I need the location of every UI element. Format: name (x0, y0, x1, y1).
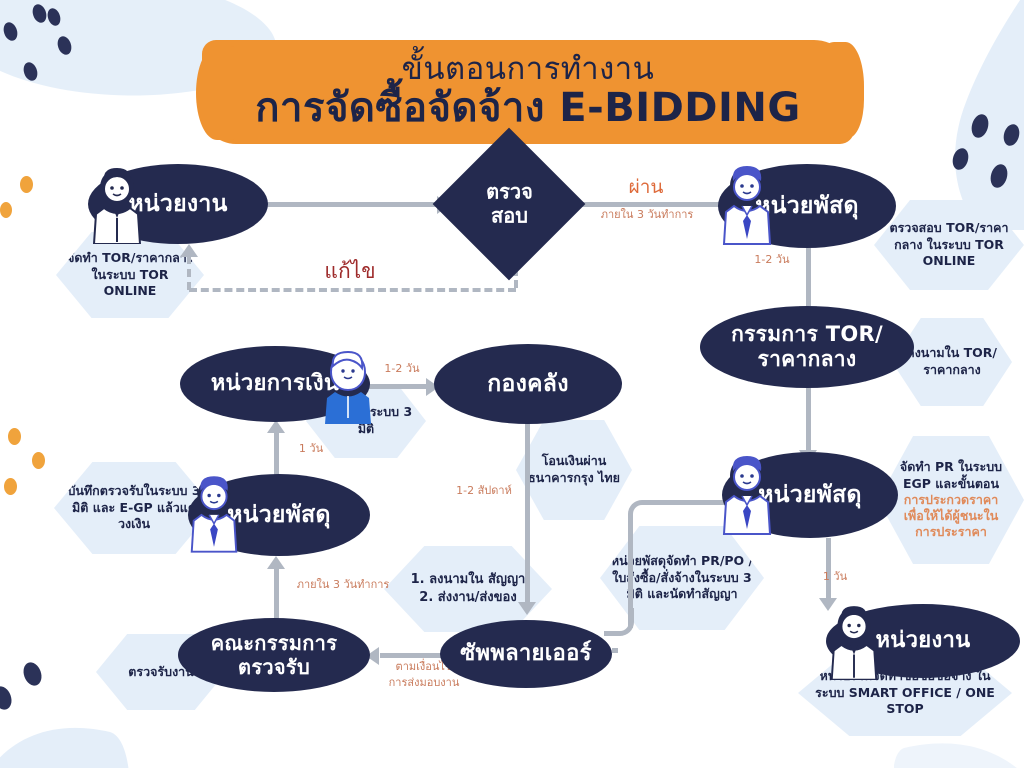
node-label-line-2: สอบ (491, 203, 528, 227)
node-treasury[interactable]: กองคลัง (434, 344, 622, 424)
edge-label-1-day-b: 1 วัน (812, 570, 858, 584)
decor-dot (0, 684, 15, 712)
connector-revise-horizontal (189, 288, 516, 292)
callout-tor-online-check: ตรวจสอบ TOR/ราคากลาง ในระบบ TOR ONLINE (874, 200, 1024, 290)
node-label: ซัพพลายเออร์ (460, 641, 591, 667)
callout-tor-sign: ลงนามใน TOR/ราคากลาง (892, 318, 1012, 406)
edge-label-pass-sub: ภายใน 3 วันทำการ (594, 208, 700, 222)
edge-label-1-day-c: 1 วัน (288, 442, 334, 456)
infographic-canvas: ขั้นตอนการทำงาน การจัดซื้อจัดจ้าง E-BIDD… (0, 0, 1024, 768)
node-label-line-1: คณะกรรมการ (211, 631, 338, 655)
callout-text: ลงนามใน TOR/ราคากลาง (900, 345, 1004, 379)
edge-label-pass: ผ่าน (596, 176, 696, 200)
edge-label-1-2-days-a: 1-2 วัน (744, 253, 800, 267)
decor-dot (30, 2, 48, 24)
decor-dot (1001, 122, 1021, 147)
decor-dot (20, 660, 44, 688)
connector-supplier-in-elbow (604, 608, 634, 636)
decor-dot (988, 162, 1010, 189)
edge-label-delivery-terms-2: การส่งมอบงาน (374, 676, 474, 690)
arrow-inspection-to-supply3 (267, 556, 285, 569)
decor-dot (21, 60, 39, 82)
person-blue-tie-icon (716, 450, 778, 536)
node-label-line-2: ราคากลาง (758, 347, 857, 372)
connector-revise-vertical-left (187, 256, 191, 290)
node-label-line-2: ตรวจรับ (238, 655, 310, 679)
arrow-treasury-to-supplier (518, 602, 536, 615)
decor-dot (969, 112, 991, 139)
connector-check-to-supply1 (572, 202, 724, 207)
connector-supply3-to-finance (274, 430, 279, 478)
decor-blob-top-right (904, 0, 1024, 230)
decor-dot (0, 202, 12, 218)
node-label: กองคลัง (487, 371, 568, 398)
node-supplier[interactable]: ซัพพลายเออร์ (440, 620, 612, 688)
callout-pr-egp: จัดทำ PR ในระบบ EGP และขั้นตอน การประกวด… (878, 436, 1024, 564)
page-title-line-2: การจัดซื้อจัดจ้าง E-BIDDING (255, 86, 800, 131)
page-title-line-1: ขั้นตอนการทำงาน (402, 53, 655, 86)
node-label: หน่วยงาน (875, 628, 970, 654)
decor-dot (55, 34, 73, 56)
edge-label-revise: แก้ไข (300, 258, 400, 284)
callout-text: 1. ลงนามใน สัญญา (411, 571, 526, 589)
callout-text: โอนเงินผ่าน ธนาคารกรุง ไทย (524, 453, 624, 487)
person-hoodie-icon (320, 348, 376, 424)
decor-dot (8, 428, 21, 445)
callout-text: เพื่อให้ได้ผู้ชนะใน (904, 508, 998, 524)
callout-text: การประราคา (915, 524, 987, 540)
node-label-line-1: กรรมการ TOR/ (731, 322, 883, 347)
connector-inspection-to-supply3 (274, 568, 279, 624)
callout-text: การประกวดราคา (904, 492, 998, 508)
decor-dot (46, 7, 63, 28)
decor-dot (1, 20, 19, 42)
decor-blob-bottom-left (0, 688, 130, 768)
person-blue-tie-icon (716, 160, 778, 246)
callout-text: 2. ส่งงาน/ส่งของ (419, 589, 516, 607)
node-label-line-1: ตรวจ (486, 179, 533, 203)
decor-dot (950, 146, 970, 171)
connector-agency-to-check (266, 202, 441, 207)
decor-dot (4, 478, 17, 495)
decor-dot (32, 452, 45, 469)
node-inspection-committee[interactable]: คณะกรรมการ ตรวจรับ (178, 618, 370, 692)
decor-dot (20, 176, 33, 193)
connector-supply1-to-torcommittee (806, 248, 811, 310)
edge-label-within-3-days: ภายใน 3 วันทำการ (288, 578, 398, 592)
person-dark-hair-icon (86, 162, 148, 244)
person-dark-hair-icon (824, 600, 884, 680)
connector-torcommittee-to-supply2 (806, 388, 811, 454)
callout-text: จัดทำ TOR/ราคากลาง ในระบบ TOR ONLINE (64, 250, 196, 301)
node-check-decision[interactable]: ตรวจ สอบ (433, 128, 586, 281)
node-tor-committee[interactable]: กรรมการ TOR/ ราคากลาง (700, 306, 914, 388)
connector-supply2-to-supplier-h2 (612, 648, 618, 653)
callout-transfer-ktb: โอนเงินผ่าน ธนาคารกรุง ไทย (516, 420, 632, 520)
callout-text: EGP และขั้นตอน (903, 476, 999, 492)
arrow-revise-to-agency (180, 244, 198, 257)
callout-text: ตรวจสอบ TOR/ราคากลาง ในระบบ TOR ONLINE (882, 220, 1016, 271)
callout-text: จัดทำ PR ในระบบ (900, 459, 1002, 475)
edge-label-1-2-weeks: 1-2 สัปดาห์ (448, 484, 520, 498)
connector-treasury-to-supplier (525, 414, 530, 608)
title-banner: ขั้นตอนการทำงาน การจัดซื้อจัดจ้าง E-BIDD… (202, 40, 854, 144)
person-blue-tie-icon (184, 470, 244, 554)
edge-label-1-2-days-b: 1-2 วัน (376, 362, 428, 376)
